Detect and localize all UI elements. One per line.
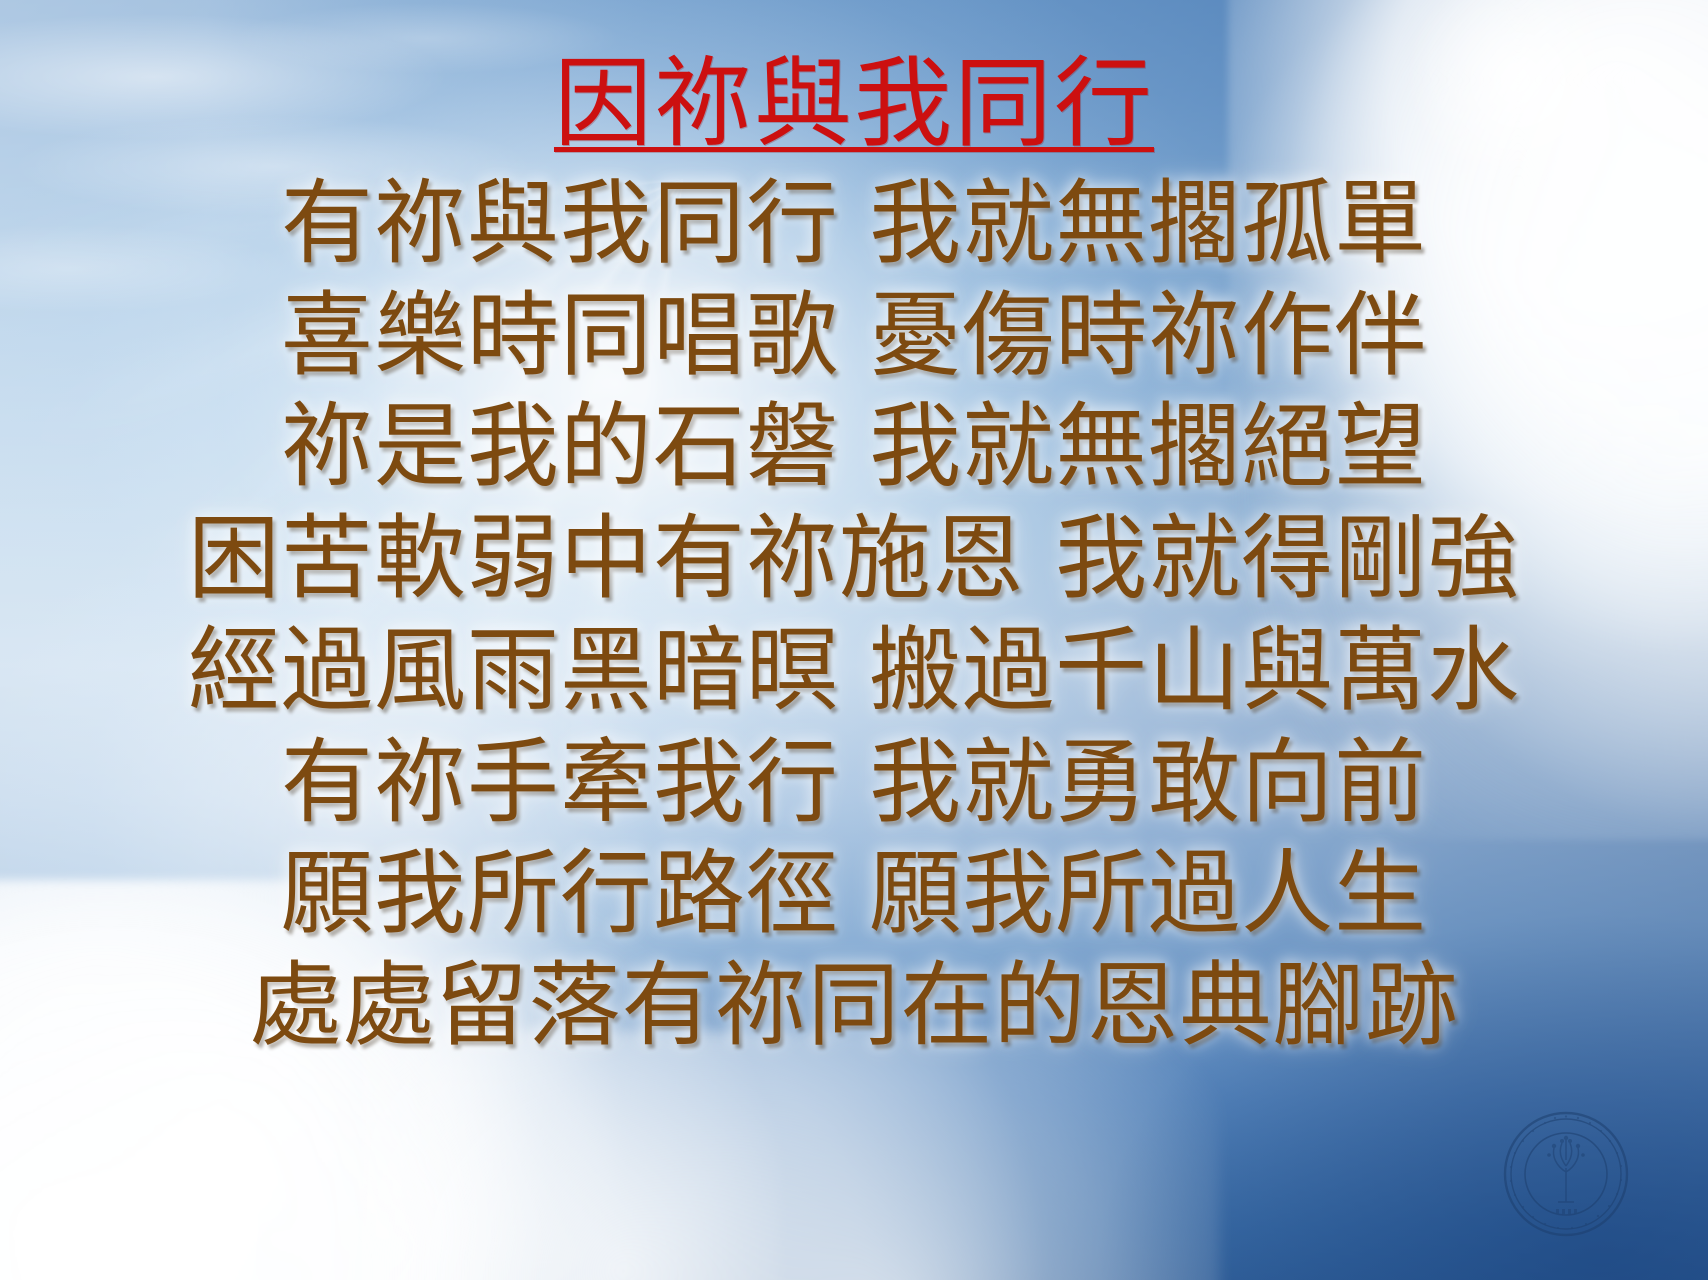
slide-title: 因祢與我同行 bbox=[30, 52, 1678, 158]
church-seal-icon bbox=[1502, 1110, 1630, 1238]
lyric-line: 願我所行路徑 願我所過人生 bbox=[30, 838, 1678, 950]
lyric-line: 經過風雨黑暗暝 搬過千山與萬水 bbox=[30, 615, 1678, 727]
lyrics-block: 有祢與我同行 我就無擱孤單 喜樂時同唱歌 憂傷時祢作伴 祢是我的石磐 我就無擱絕… bbox=[30, 168, 1678, 1062]
lyric-line: 祢是我的石磐 我就無擱絕望 bbox=[30, 391, 1678, 503]
slide-canvas: 因祢與我同行 有祢與我同行 我就無擱孤單 喜樂時同唱歌 憂傷時祢作伴 祢是我的石… bbox=[0, 0, 1708, 1280]
lyric-line: 有祢手牽我行 我就勇敢向前 bbox=[30, 727, 1678, 839]
lyric-line: 處處留落有祢同在的恩典腳跡 bbox=[30, 950, 1678, 1062]
lyric-line: 有祢與我同行 我就無擱孤單 bbox=[30, 168, 1678, 280]
slide-content: 因祢與我同行 有祢與我同行 我就無擱孤單 喜樂時同唱歌 憂傷時祢作伴 祢是我的石… bbox=[0, 0, 1708, 1280]
lyric-line: 喜樂時同唱歌 憂傷時祢作伴 bbox=[30, 280, 1678, 392]
lyric-line: 困苦軟弱中有祢施恩 我就得剛強 bbox=[30, 503, 1678, 615]
